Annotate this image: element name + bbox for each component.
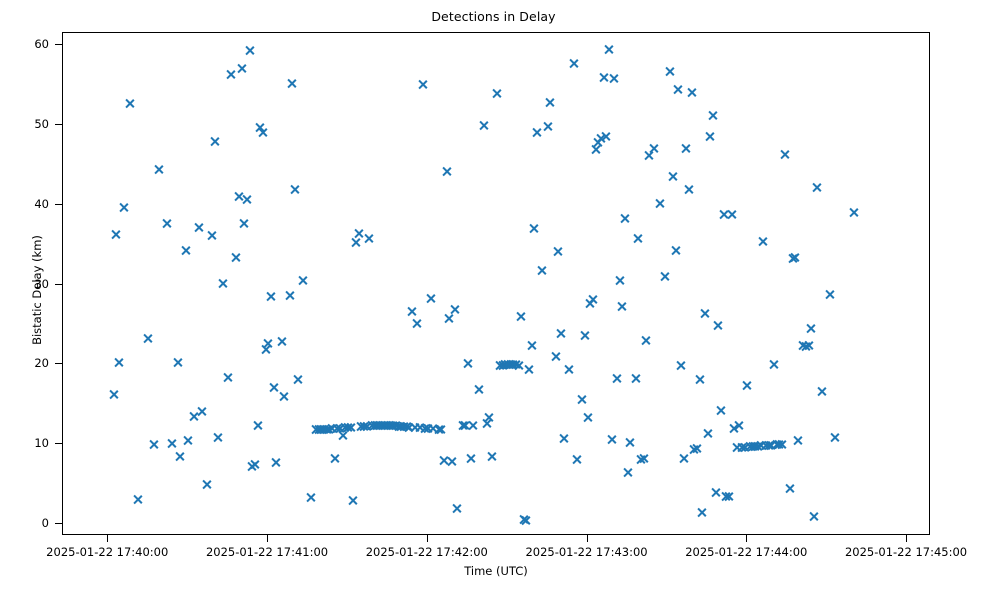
data-point (337, 430, 348, 441)
data-point (542, 121, 553, 132)
data-point (231, 252, 242, 263)
data-point (278, 391, 289, 402)
data-point (649, 143, 660, 154)
data-point (689, 444, 700, 455)
data-point (641, 335, 652, 346)
data-point (667, 171, 678, 182)
data-point (372, 420, 383, 431)
data-point (478, 120, 489, 131)
data-point (750, 441, 761, 452)
data-point (673, 84, 684, 95)
data-point (699, 308, 710, 319)
data-point (446, 456, 457, 467)
data-point (193, 222, 204, 233)
data-point (255, 122, 266, 133)
y-tick-label: 60 (0, 37, 49, 51)
data-point (284, 290, 295, 301)
data-point (824, 289, 835, 300)
data-point (316, 424, 327, 435)
y-tick (55, 443, 62, 444)
data-point (505, 359, 516, 370)
data-point (265, 291, 276, 302)
data-point (816, 386, 827, 397)
x-tick (427, 535, 428, 542)
data-point (531, 127, 542, 138)
data-point (433, 424, 444, 435)
data-point (800, 341, 811, 352)
data-point (444, 313, 455, 324)
data-point (683, 184, 694, 195)
data-point (614, 275, 625, 286)
data-point (659, 271, 670, 282)
plot-area (62, 32, 930, 535)
data-point (196, 406, 207, 417)
data-point (558, 433, 569, 444)
data-point (707, 110, 718, 121)
data-point (324, 424, 335, 435)
data-point (779, 149, 790, 160)
data-point (731, 442, 742, 453)
data-point (420, 423, 431, 434)
data-point (268, 382, 279, 393)
data-point (401, 421, 412, 432)
data-point (398, 421, 409, 432)
data-point (252, 420, 263, 431)
data-point (180, 245, 191, 256)
data-point (744, 441, 755, 452)
data-point (734, 420, 745, 431)
data-point (681, 143, 692, 154)
data-point (747, 441, 758, 452)
data-point (201, 479, 212, 490)
data-point (305, 492, 316, 503)
data-point (763, 440, 774, 451)
data-point (468, 420, 479, 431)
data-point (619, 213, 630, 224)
x-tick-label: 2025-01-22 17:45:00 (845, 545, 967, 559)
data-point (771, 439, 782, 450)
data-point (691, 443, 702, 454)
data-point (798, 340, 809, 351)
data-point (507, 359, 518, 370)
data-point (207, 230, 218, 241)
data-point (523, 364, 534, 375)
data-point (545, 97, 556, 108)
data-point (414, 422, 425, 433)
data-point (752, 441, 763, 452)
data-point (441, 166, 452, 177)
data-point (393, 421, 404, 432)
data-point (768, 359, 779, 370)
data-point (755, 440, 766, 451)
data-point (497, 360, 508, 371)
data-point (585, 298, 596, 309)
data-point (417, 79, 428, 90)
data-point (438, 455, 449, 466)
data-point (390, 420, 401, 431)
data-point (494, 360, 505, 371)
data-point (276, 336, 287, 347)
data-point (715, 405, 726, 416)
data-point (550, 351, 561, 362)
data-point (132, 494, 143, 505)
data-point (712, 320, 723, 331)
x-tick (107, 535, 108, 542)
data-point (321, 424, 332, 435)
data-point (521, 515, 532, 526)
y-tick (55, 523, 62, 524)
data-point (553, 246, 564, 257)
data-point (622, 467, 633, 478)
data-point (425, 293, 436, 304)
data-point (484, 412, 495, 423)
data-point (108, 389, 119, 400)
x-axis-label: Time (UTC) (62, 564, 930, 578)
data-point (694, 374, 705, 385)
data-point (369, 420, 380, 431)
data-point (353, 228, 364, 239)
data-point (702, 428, 713, 439)
data-point (286, 78, 297, 89)
y-tick (55, 204, 62, 205)
data-point (382, 420, 393, 431)
data-point (499, 359, 510, 370)
data-point (318, 424, 329, 435)
x-tick-label: 2025-01-22 17:41:00 (206, 545, 328, 559)
y-tick (55, 363, 62, 364)
data-point (603, 44, 614, 55)
data-point (670, 245, 681, 256)
data-point (760, 440, 771, 451)
data-point (513, 360, 524, 371)
data-point (436, 424, 447, 435)
data-point (236, 63, 247, 74)
data-point (515, 311, 526, 322)
data-point (537, 265, 548, 276)
data-point (449, 304, 460, 315)
data-point (428, 423, 439, 434)
data-point (811, 182, 822, 193)
chart-title: Detections in Delay (0, 9, 987, 24)
data-point (742, 380, 753, 391)
data-point (595, 133, 606, 144)
data-point (617, 301, 628, 312)
data-point (792, 435, 803, 446)
data-point (462, 358, 473, 369)
data-point (460, 420, 471, 431)
data-point (609, 73, 620, 84)
data-point (340, 422, 351, 433)
data-point (297, 275, 308, 286)
data-point (143, 333, 154, 344)
data-point (563, 364, 574, 375)
data-point (332, 423, 343, 434)
data-point (686, 87, 697, 98)
y-tick-label: 0 (0, 516, 49, 530)
data-point (212, 432, 223, 443)
data-point (364, 233, 375, 244)
data-point (848, 207, 859, 218)
x-tick (746, 535, 747, 542)
data-point (388, 420, 399, 431)
data-point (678, 453, 689, 464)
data-point (611, 373, 622, 384)
x-tick-label: 2025-01-22 17:44:00 (685, 545, 807, 559)
data-point (385, 420, 396, 431)
y-axis-label: Bistatic Delay (km) (30, 160, 44, 420)
y-tick (55, 284, 62, 285)
data-point (119, 202, 130, 213)
data-point (412, 318, 423, 329)
data-point (473, 384, 484, 395)
data-point (587, 294, 598, 305)
data-point (374, 420, 385, 431)
data-point (465, 453, 476, 464)
data-point (241, 194, 252, 205)
data-point (404, 422, 415, 433)
data-point (736, 442, 747, 453)
y-tick (55, 44, 62, 45)
y-tick (55, 124, 62, 125)
data-point (356, 421, 367, 432)
data-point (808, 511, 819, 522)
data-point (348, 495, 359, 506)
data-point (223, 372, 234, 383)
data-point (630, 373, 641, 384)
data-point (726, 209, 737, 220)
data-point (452, 503, 463, 514)
data-point (569, 58, 580, 69)
data-point (665, 66, 676, 77)
data-point (555, 328, 566, 339)
data-point (361, 421, 372, 432)
data-point (260, 344, 271, 355)
data-point (510, 359, 521, 370)
data-point (593, 137, 604, 148)
data-point (366, 420, 377, 431)
data-point (787, 253, 798, 264)
data-point (209, 136, 220, 147)
data-point (758, 236, 769, 247)
data-point (739, 442, 750, 453)
x-tick (906, 535, 907, 542)
data-point (582, 412, 593, 423)
data-point (153, 164, 164, 175)
data-point (803, 340, 814, 351)
data-point (239, 218, 250, 229)
data-point (247, 461, 258, 472)
data-point (728, 423, 739, 434)
data-point (292, 374, 303, 385)
data-point (263, 338, 274, 349)
data-point (380, 420, 391, 431)
data-point (577, 394, 588, 405)
data-point (249, 459, 260, 470)
data-point (342, 422, 353, 433)
data-point (217, 278, 228, 289)
data-point (406, 306, 417, 317)
data-point (313, 424, 324, 435)
data-point (289, 184, 300, 195)
data-point (526, 340, 537, 351)
data-point (124, 98, 135, 109)
data-point (257, 127, 268, 138)
data-point (334, 423, 345, 434)
data-point (606, 434, 617, 445)
data-point (244, 45, 255, 56)
data-point (633, 233, 644, 244)
data-point (225, 69, 236, 80)
y-tick-label: 50 (0, 117, 49, 131)
data-point (326, 423, 337, 434)
data-point (518, 514, 529, 525)
data-point (675, 360, 686, 371)
data-point (723, 491, 734, 502)
data-point (161, 218, 172, 229)
data-point (529, 223, 540, 234)
x-tick (587, 535, 588, 542)
data-point (579, 330, 590, 341)
data-point (590, 144, 601, 155)
data-point (806, 323, 817, 334)
data-point (167, 438, 178, 449)
data-point (486, 451, 497, 462)
data-point (183, 435, 194, 446)
data-point (766, 440, 777, 451)
data-point (188, 411, 199, 422)
data-point (571, 454, 582, 465)
y-tick-label: 10 (0, 436, 49, 450)
data-point (625, 437, 636, 448)
data-point (638, 453, 649, 464)
data-point (233, 191, 244, 202)
data-point (705, 131, 716, 142)
data-point (481, 418, 492, 429)
data-point (598, 72, 609, 83)
data-point (350, 237, 361, 248)
data-point (654, 198, 665, 209)
x-tick (267, 535, 268, 542)
data-point (718, 209, 729, 220)
x-tick-label: 2025-01-22 17:42:00 (366, 545, 488, 559)
data-point (329, 453, 340, 464)
data-point (175, 451, 186, 462)
matplotlib-figure: Detections in Delay 0102030405060 2025-0… (0, 0, 987, 590)
data-point (697, 507, 708, 518)
data-point (457, 420, 468, 431)
data-point (358, 421, 369, 432)
data-point (710, 487, 721, 498)
data-point (377, 420, 388, 431)
data-point (310, 424, 321, 435)
data-point (422, 423, 433, 434)
data-point (790, 252, 801, 263)
data-point (113, 357, 124, 368)
data-point (720, 491, 731, 502)
data-point (643, 150, 654, 161)
data-point (502, 359, 513, 370)
data-point (776, 439, 787, 450)
data-point (172, 357, 183, 368)
data-point (111, 229, 122, 240)
data-point (271, 457, 282, 468)
data-point (784, 483, 795, 494)
data-point (345, 422, 356, 433)
x-tick-label: 2025-01-22 17:40:00 (46, 545, 168, 559)
data-point (830, 432, 841, 443)
data-point (409, 422, 420, 433)
data-point (635, 454, 646, 465)
data-point (396, 421, 407, 432)
data-point (492, 88, 503, 99)
data-point (148, 439, 159, 450)
data-point (774, 439, 785, 450)
x-tick-label: 2025-01-22 17:43:00 (525, 545, 647, 559)
data-point (601, 131, 612, 142)
